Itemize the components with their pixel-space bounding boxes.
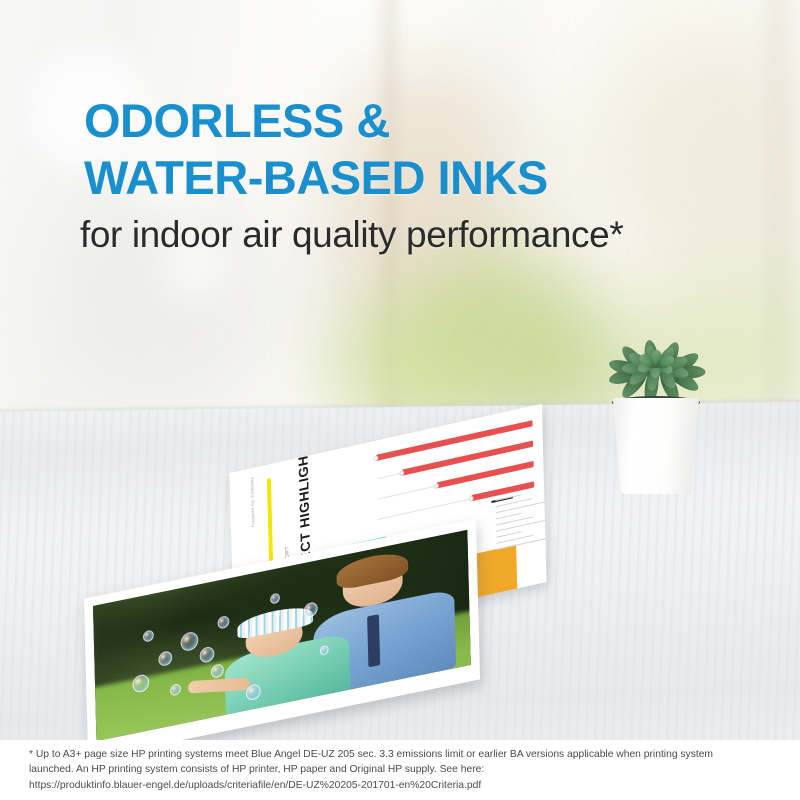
footer-disclaimer-text: * Up to A3+ page size HP printing system… bbox=[29, 747, 780, 793]
marketing-poster: Prepared by: Company Q4 2019 REPORT PROJ… bbox=[0, 0, 800, 800]
adult-tie bbox=[367, 614, 380, 667]
page-title: ODORLESS & WATER-BASED INKS bbox=[84, 92, 548, 206]
page-subtitle: for indoor air quality performance* bbox=[80, 213, 623, 257]
white-ceramic-pot bbox=[610, 398, 702, 494]
succulent-leaves bbox=[596, 310, 716, 410]
footer-disclaimer-band: * Up to A3+ page size HP printing system… bbox=[0, 740, 800, 800]
brochure-eyebrow: Prepared by: Company bbox=[249, 477, 255, 528]
succulent-plant bbox=[596, 310, 716, 500]
product-scene-photo: Prepared by: Company Q4 2019 REPORT PROJ… bbox=[0, 0, 800, 740]
